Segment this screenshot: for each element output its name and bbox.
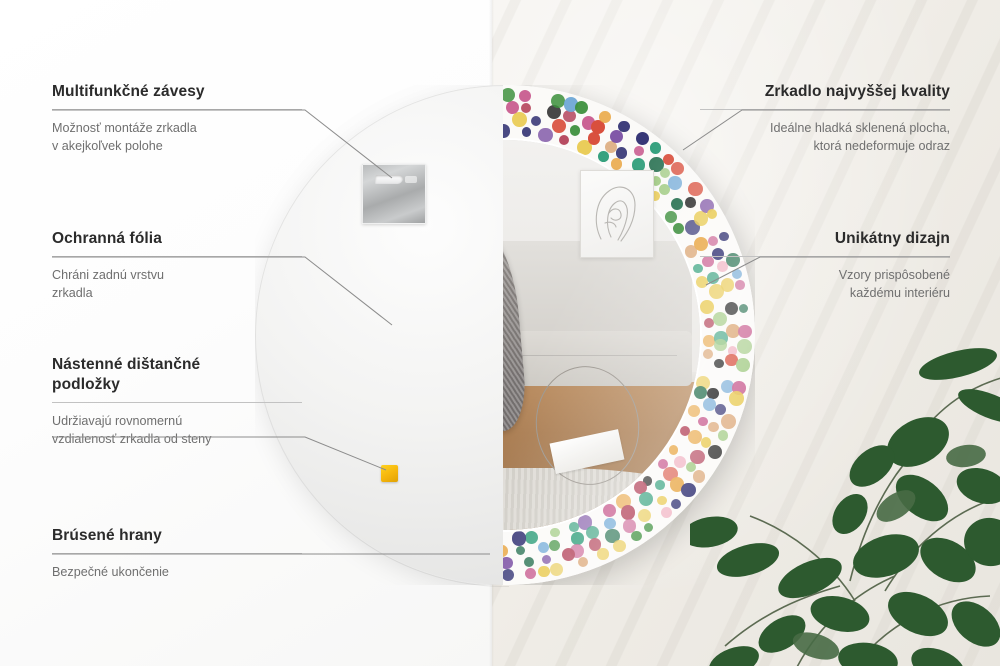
framed-line-art <box>580 170 654 258</box>
callout-title: Unikátny dizajn <box>700 229 950 249</box>
callout-rule <box>52 109 302 110</box>
callout-top-quality-mirror: Zrkadlo najvyššej kvality Ideálne hladká… <box>700 82 950 155</box>
callout-desc: Ideálne hladká sklenená plocha, ktorá ne… <box>700 119 950 156</box>
callout-title: Zrkadlo najvyššej kvality <box>700 82 950 102</box>
callout-protective-foil: Ochranná fólia Chráni zadnú vrstvu zrkad… <box>52 229 302 302</box>
hanger-plate <box>362 164 426 224</box>
infographic-canvas: Multifunkčné závesy Možnosť montáže zrka… <box>0 0 1000 666</box>
callout-rule <box>52 553 302 554</box>
callout-title: Brúsené hrany <box>52 526 302 546</box>
callout-title: Ochranná fólia <box>52 229 302 249</box>
hanger-keyhole-slot <box>374 175 404 184</box>
callout-rule <box>52 402 302 403</box>
callout-title: Multifunkčné závesy <box>52 82 302 102</box>
callout-unique-design: Unikátny dizajn Vzory prispôsobené každé… <box>700 229 950 302</box>
callout-wall-spacers: Nástenné dištančné podložky Udržiavajú r… <box>52 355 302 448</box>
hanger-secondary-slot <box>405 176 417 183</box>
callout-desc: Udržiavajú rovnomernú vzdialenosť zrkadl… <box>52 412 302 449</box>
wall-spacer-pad <box>381 465 398 482</box>
callout-title: Nástenné dištančné podložky <box>52 355 302 395</box>
callout-rule <box>700 256 950 257</box>
callout-rule <box>700 109 950 110</box>
callout-desc: Chráni zadnú vrstvu zrkadla <box>52 266 302 303</box>
callout-desc: Vzory prispôsobené každému interiéru <box>700 266 950 303</box>
callout-desc: Možnosť montáže zrkadla v akejkoľvek pol… <box>52 119 302 156</box>
callout-ground-edges: Brúsené hrany Bezpečné ukončenie <box>52 526 302 581</box>
callout-hangers: Multifunkčné závesy Možnosť montáže zrka… <box>52 82 302 155</box>
plant-leaves-foreground <box>690 346 1000 666</box>
callout-rule <box>52 256 302 257</box>
callout-desc: Bezpečné ukončenie <box>52 563 302 581</box>
